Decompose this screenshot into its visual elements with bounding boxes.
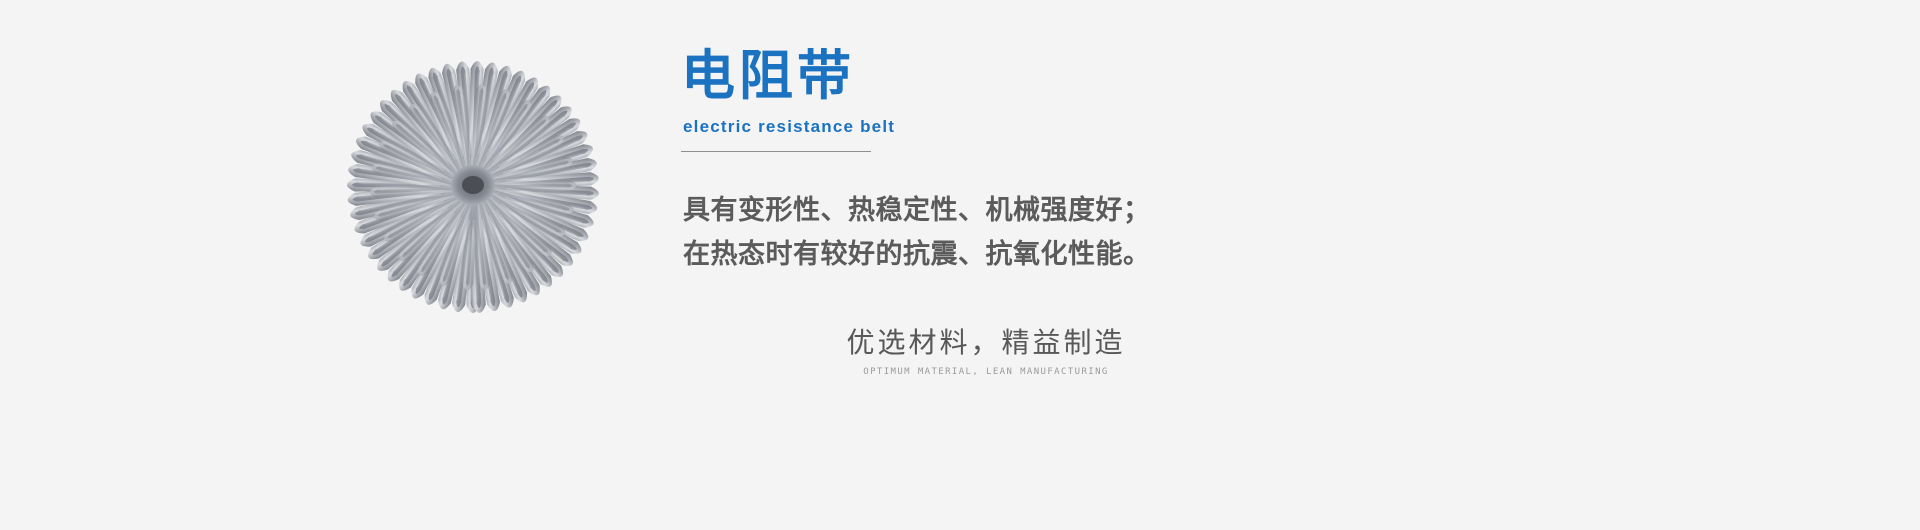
page-subtitle: electric resistance belt [683,116,895,138]
slogan-chinese: 优选材料，精益制造 [776,322,1196,364]
banner-content: 电阻带 electric resistance belt 具有变形性、热稳定性、… [681,0,1381,530]
description-line-1: 具有变形性、热稳定性、机械强度好； [683,188,1243,232]
product-image [295,35,655,375]
slogan-english: OPTIMUM MATERIAL, LEAN MANUFACTURING [776,366,1196,378]
resistance-belt-coil-illustration [295,35,655,375]
product-description: 具有变形性、热稳定性、机械强度好； 在热态时有较好的抗震、抗氧化性能。 [683,188,1243,276]
description-line-2: 在热态时有较好的抗震、抗氧化性能。 [683,232,1243,276]
title-divider [681,151,871,152]
product-banner: 电阻带 electric resistance belt 具有变形性、热稳定性、… [0,0,1920,530]
slogan-block: 优选材料，精益制造 OPTIMUM MATERIAL, LEAN MANUFAC… [776,322,1196,378]
page-title: 电阻带 [681,45,855,107]
coil-graphic [295,35,655,375]
